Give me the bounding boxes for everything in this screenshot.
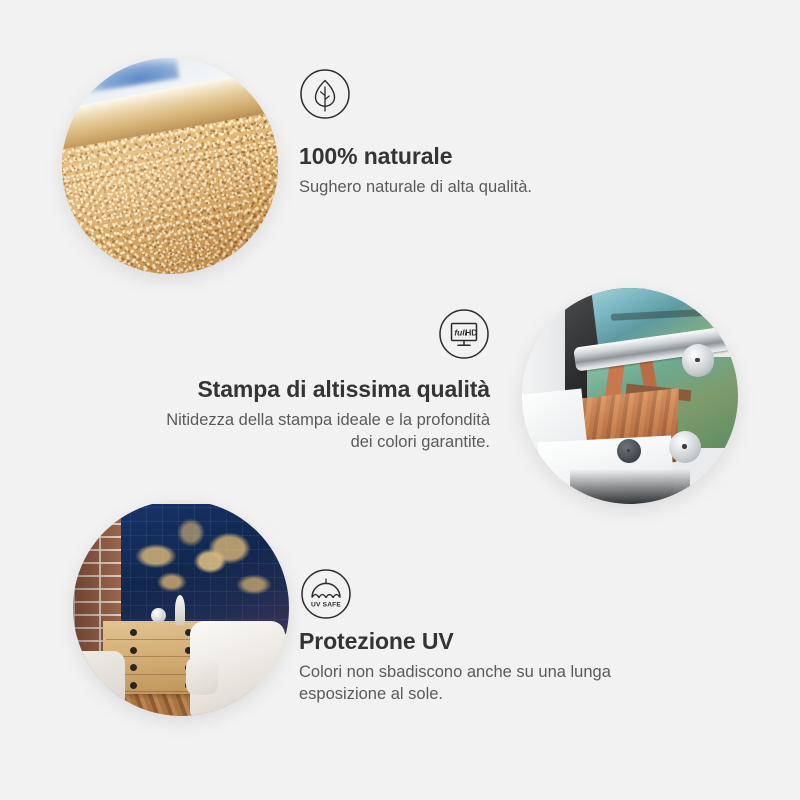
feature-text-uv-protection: Protezione UV Colori non sbadiscono anch… [299, 628, 679, 705]
interior-photo-dresser-knob [130, 682, 137, 689]
printer-photo-roller-knob-c [617, 439, 641, 463]
interior-photo-armchair-left [73, 651, 125, 716]
printer-photo-roller-knob-b [669, 431, 701, 463]
feature-text-print-quality: Stampa di altissima qualità Nitidezza de… [160, 376, 490, 453]
feature-description-natural: Sughero naturale di alta qualità. [299, 176, 659, 198]
feature-description-uv-protection: Colori non sbadiscono anche su una lunga… [299, 661, 679, 705]
leaf-icon [299, 68, 351, 120]
feature-title-print-quality: Stampa di altissima qualità [160, 376, 490, 403]
feature-description-print-quality: Nitidezza della stampa ideale e la profo… [160, 409, 490, 453]
svg-text:UV SAFE: UV SAFE [311, 602, 341, 609]
cork-board-closeup-photo [62, 58, 278, 274]
interior-photo-armchair-right [190, 621, 285, 716]
interior-photo-world-map-canvas [114, 504, 289, 634]
feature-title-uv-protection: Protezione UV [299, 628, 679, 655]
interior-photo-decor-globe [151, 608, 166, 623]
interior-photo-armchair-arm [186, 657, 218, 695]
interior-photo-decor-figurine [175, 595, 186, 625]
feature-title-natural: 100% naturale [299, 143, 659, 170]
feature-text-natural: 100% naturale Sughero naturale di alta q… [299, 143, 659, 198]
fullhd-monitor-icon: full HD [438, 308, 490, 360]
cork-photo-inner [62, 58, 278, 274]
printer-photo-bottom-shadow [570, 469, 691, 504]
interior-photo-dresser-knob [130, 629, 137, 636]
interior-photo-inner [73, 500, 289, 716]
printer-photo-inner [522, 288, 738, 504]
printer-photo-roller-knob-a [682, 344, 714, 376]
feature-list: 100% naturale Sughero naturale di alta q… [0, 0, 800, 800]
interior-photo-dresser-knob [130, 647, 137, 654]
living-room-world-map-photo [73, 500, 289, 716]
uv-safe-umbrella-icon: UV SAFE [300, 568, 352, 620]
large-format-printer-photo [522, 288, 738, 504]
svg-text:HD: HD [465, 327, 477, 337]
